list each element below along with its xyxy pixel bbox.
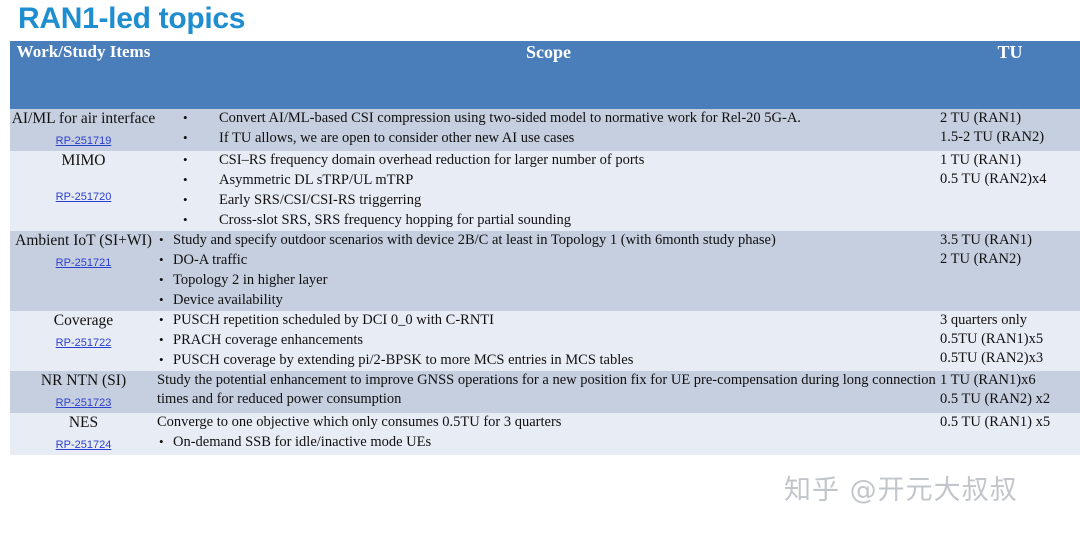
ran1-led-topics-table: Work/Study Items Scope TU AI/ML for air … [10, 41, 1080, 455]
table-row: MIMO RP-251720 CSI–RS frequency domain o… [10, 151, 1080, 231]
item-reference-link[interactable]: RP-251722 [10, 333, 157, 353]
scope-bullet: Study and specify outdoor scenarios with… [157, 231, 940, 250]
cell-work-study-item: Ambient IoT (SI+WI) RP-251721 [10, 231, 157, 311]
item-name: NES [10, 413, 157, 433]
scope-bullet: Convert AI/ML-based CSI compression usin… [157, 109, 940, 128]
item-name: MIMO [10, 151, 157, 171]
scope-bullet: Cross-slot SRS, SRS frequency hopping fo… [157, 211, 940, 230]
item-name: Ambient IoT (SI+WI) [10, 231, 157, 251]
cell-scope: Study the potential enhancement to impro… [157, 371, 940, 413]
item-name: Coverage [10, 311, 157, 331]
table-row: NR NTN (SI) RP-251723 Study the potentia… [10, 371, 1080, 413]
cell-tu: 1 TU (RAN1)x6 0.5 TU (RAN2) x2 [940, 371, 1080, 413]
tu-line: 0.5TU (RAN2)x3 [940, 349, 1080, 368]
table-header: Work/Study Items Scope TU [10, 41, 1080, 109]
table-row: Ambient IoT (SI+WI) RP-251721 Study and … [10, 231, 1080, 311]
cell-scope: Study and specify outdoor scenarios with… [157, 231, 940, 311]
scope-paragraph: Converge to one objective which only con… [157, 413, 940, 432]
cell-scope: PUSCH repetition scheduled by DCI 0_0 wi… [157, 311, 940, 371]
scope-bullet-list: On-demand SSB for idle/inactive mode UEs [157, 433, 940, 452]
item-reference-link[interactable]: RP-251720 [10, 187, 157, 207]
column-header-tu: TU [940, 41, 1080, 109]
table-row: Coverage RP-251722 PUSCH repetition sche… [10, 311, 1080, 371]
cell-tu: 1 TU (RAN1) 0.5 TU (RAN2)x4 [940, 151, 1080, 231]
tu-line: 3.5 TU (RAN1) [940, 231, 1080, 250]
cell-scope: CSI–RS frequency domain overhead reducti… [157, 151, 940, 231]
scope-bullet: PUSCH coverage by extending pi/2-BPSK to… [157, 351, 940, 370]
scope-bullet: PRACH coverage enhancements [157, 331, 940, 350]
cell-tu: 3.5 TU (RAN1) 2 TU (RAN2) [940, 231, 1080, 311]
zhihu-watermark: 知乎 @开元大叔叔 [784, 476, 1018, 506]
scope-bullet: Topology 2 in higher layer [157, 271, 940, 290]
scope-bullet-list: Study and specify outdoor scenarios with… [157, 231, 940, 310]
scope-bullet: Device availability [157, 291, 940, 310]
item-name: NR NTN (SI) [10, 371, 157, 391]
cell-work-study-item: MIMO RP-251720 [10, 151, 157, 231]
scope-bullet-list: CSI–RS frequency domain overhead reducti… [157, 151, 940, 230]
slide-canvas: RAN1-led topics Work/Study Items Scope T… [0, 0, 1080, 538]
item-reference-link[interactable]: RP-251721 [10, 253, 157, 273]
page-title: RAN1-led topics [18, 0, 245, 38]
scope-bullet: On-demand SSB for idle/inactive mode UEs [157, 433, 940, 452]
tu-line: 0.5TU (RAN1)x5 [940, 330, 1080, 349]
tu-line: 0.5 TU (RAN1) x5 [940, 413, 1080, 432]
tu-line: 2 TU (RAN2) [940, 250, 1080, 269]
item-reference-link[interactable]: RP-251724 [10, 435, 157, 455]
table-header-row: Work/Study Items Scope TU [10, 41, 1080, 109]
tu-line: 1 TU (RAN1)x6 [940, 371, 1080, 390]
scope-bullet: Asymmetric DL sTRP/UL mTRP [157, 171, 940, 190]
cell-scope: Convert AI/ML-based CSI compression usin… [157, 109, 940, 151]
tu-line: 0.5 TU (RAN2)x4 [940, 170, 1080, 189]
cell-scope: Converge to one objective which only con… [157, 413, 940, 455]
tu-line: 3 quarters only [940, 311, 1080, 330]
scope-bullet: DO-A traffic [157, 251, 940, 270]
cell-work-study-item: Coverage RP-251722 [10, 311, 157, 371]
item-reference-link[interactable]: RP-251723 [10, 393, 157, 413]
scope-bullet: CSI–RS frequency domain overhead reducti… [157, 151, 940, 170]
column-header-scope: Scope [157, 41, 940, 109]
cell-work-study-item: NES RP-251724 [10, 413, 157, 455]
column-header-work-study-items: Work/Study Items [10, 41, 157, 109]
cell-tu: 2 TU (RAN1) 1.5-2 TU (RAN2) [940, 109, 1080, 151]
item-reference-link[interactable]: RP-251719 [10, 131, 157, 151]
table-row: NES RP-251724 Converge to one objective … [10, 413, 1080, 455]
table-row: AI/ML for air interface RP-251719 Conver… [10, 109, 1080, 151]
scope-bullet: PUSCH repetition scheduled by DCI 0_0 wi… [157, 311, 940, 330]
scope-bullet-list: PUSCH repetition scheduled by DCI 0_0 wi… [157, 311, 940, 370]
tu-line: 1.5-2 TU (RAN2) [940, 128, 1080, 147]
tu-line: 0.5 TU (RAN2) x2 [940, 390, 1080, 409]
item-name: AI/ML for air interface [10, 109, 157, 129]
tu-line: 1 TU (RAN1) [940, 151, 1080, 170]
cell-tu: 0.5 TU (RAN1) x5 [940, 413, 1080, 455]
cell-work-study-item: NR NTN (SI) RP-251723 [10, 371, 157, 413]
scope-paragraph: Study the potential enhancement to impro… [157, 371, 940, 409]
scope-bullet: Early SRS/CSI/CSI-RS triggerring [157, 191, 940, 210]
cell-tu: 3 quarters only 0.5TU (RAN1)x5 0.5TU (RA… [940, 311, 1080, 371]
scope-bullet-list: Convert AI/ML-based CSI compression usin… [157, 109, 940, 148]
table-body: AI/ML for air interface RP-251719 Conver… [10, 109, 1080, 455]
scope-bullet: If TU allows, we are open to consider ot… [157, 129, 940, 148]
tu-line: 2 TU (RAN1) [940, 109, 1080, 128]
cell-work-study-item: AI/ML for air interface RP-251719 [10, 109, 157, 151]
